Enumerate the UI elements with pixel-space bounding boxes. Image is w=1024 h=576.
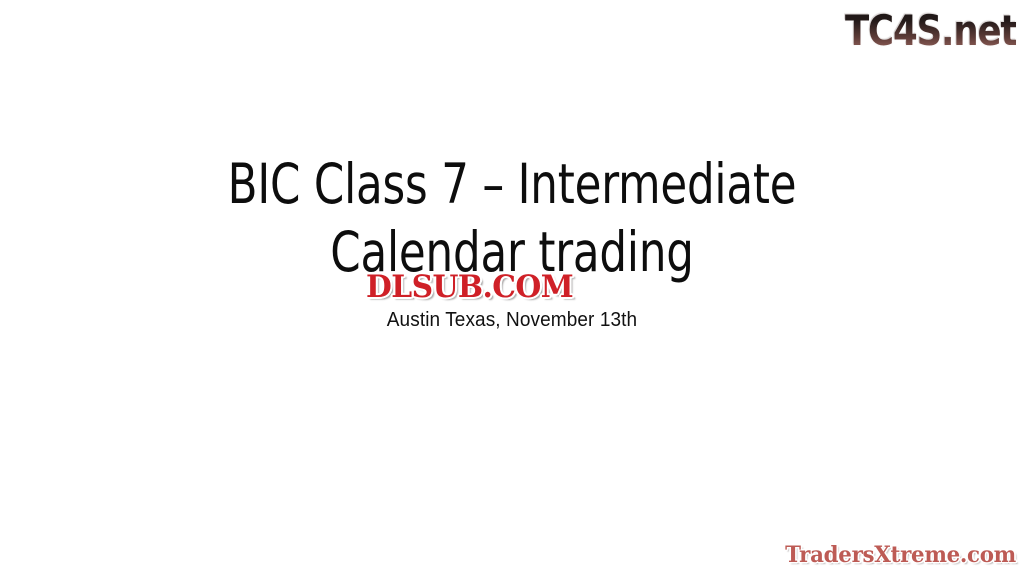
page-subtitle: Austin Texas, November 13th <box>26 308 999 332</box>
presentation-slide: TC4S.net BIC Class 7 – Intermediate Cale… <box>0 0 1024 576</box>
tradersxtreme-com-watermark: TradersXtreme.com <box>785 542 1016 568</box>
dlsub-com-watermark: DLSUB.COM <box>366 270 573 304</box>
page-title: BIC Class 7 – Intermediate Calendar trad… <box>61 150 962 286</box>
tc4s-net-watermark-logo: TC4S.net <box>845 6 1016 56</box>
title-block: BIC Class 7 – Intermediate Calendar trad… <box>0 150 1024 286</box>
